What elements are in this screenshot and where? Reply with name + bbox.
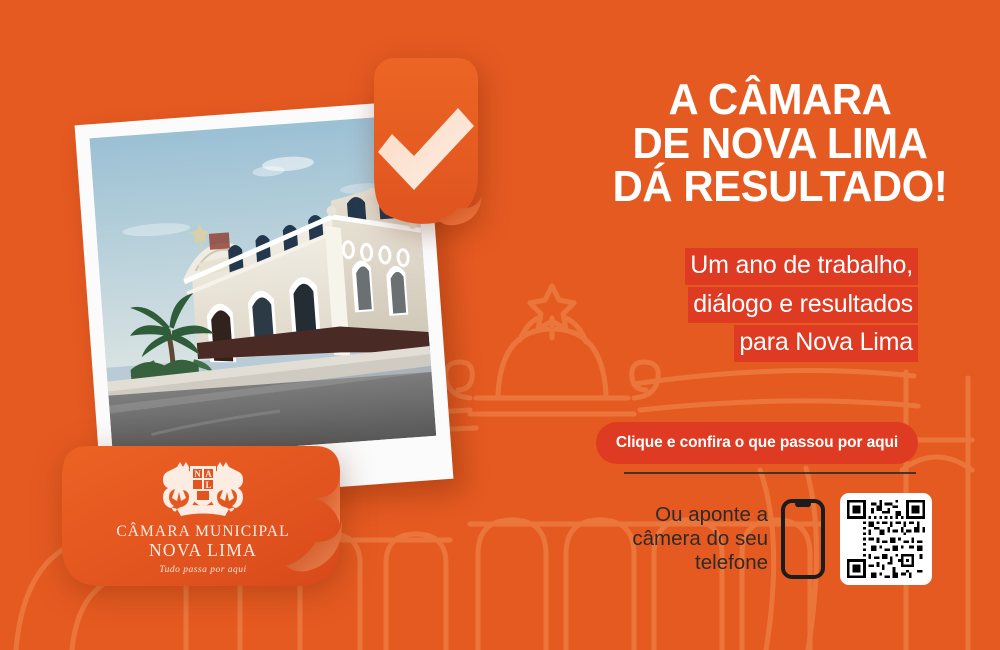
headline-line-1: A CÂMARA <box>571 78 989 122</box>
subtitle-line-1: Um ano de trabalho, <box>685 248 918 285</box>
headline-line-3: DÁ RESULTADO! <box>571 165 989 209</box>
subtitle: Um ano de trabalho, diálogo e resultados… <box>560 248 1000 364</box>
promo-banner: N A L CÂMARA MUNICIPAL NOVA LIMA Tudo pa… <box>0 0 1000 650</box>
right-content-column: A CÂMARA DE NOVA LIMA DÁ RESULTADO! Um a… <box>560 0 1000 650</box>
headline-line-2: DE NOVA LIMA <box>571 122 989 166</box>
check-badge <box>364 58 488 230</box>
logo-line-2: NOVA LIMA <box>149 541 257 561</box>
svg-text:A: A <box>205 469 212 479</box>
coat-of-arms-icon: N A L <box>157 457 249 519</box>
qr-code[interactable] <box>840 493 932 585</box>
qr-text-line-2: câmera do seu <box>580 527 768 551</box>
divider <box>624 472 916 474</box>
subtitle-line-2: diálogo e resultados <box>688 287 918 324</box>
cta-button[interactable]: Clique e confira o que passou por aqui <box>596 422 918 464</box>
qr-section: Ou aponte a câmera do seu telefone <box>580 484 980 594</box>
logo-tagline: Tudo passa por aqui <box>159 565 246 575</box>
qr-text-line-1: Ou aponte a <box>580 503 768 527</box>
svg-text:N: N <box>194 469 201 479</box>
logo-card: N A L CÂMARA MUNICIPAL NOVA LIMA Tudo pa… <box>62 446 362 586</box>
logo-line-1: CÂMARA MUNICIPAL <box>116 523 289 541</box>
qr-text-line-3: telefone <box>580 551 768 575</box>
qr-instruction-text: Ou aponte a câmera do seu telefone <box>580 503 780 576</box>
svg-text:L: L <box>205 480 211 490</box>
smartphone-icon <box>780 498 826 580</box>
page-title: A CÂMARA DE NOVA LIMA DÁ RESULTADO! <box>571 78 989 209</box>
subtitle-line-3: para Nova Lima <box>734 325 918 362</box>
